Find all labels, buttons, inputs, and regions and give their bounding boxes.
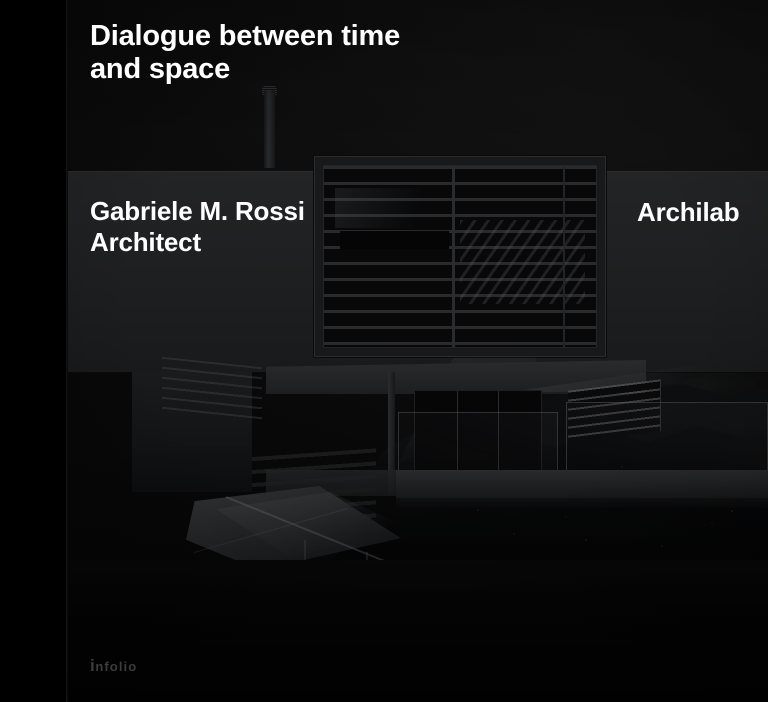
book-spine	[0, 0, 66, 702]
cover-typography: Dialogue between time and space Gabriele…	[0, 0, 768, 702]
studio-name: Archilab	[637, 197, 739, 228]
spine-edge	[66, 0, 68, 702]
cover-author: Gabriele M. Rossi Architect	[90, 196, 305, 257]
cover-title: Dialogue between time and space	[90, 20, 400, 86]
publisher-logo: infolio	[90, 656, 137, 676]
publisher-logo-rest: nfolio	[95, 659, 137, 674]
book-cover: Dialogue between time and space Gabriele…	[0, 0, 768, 702]
